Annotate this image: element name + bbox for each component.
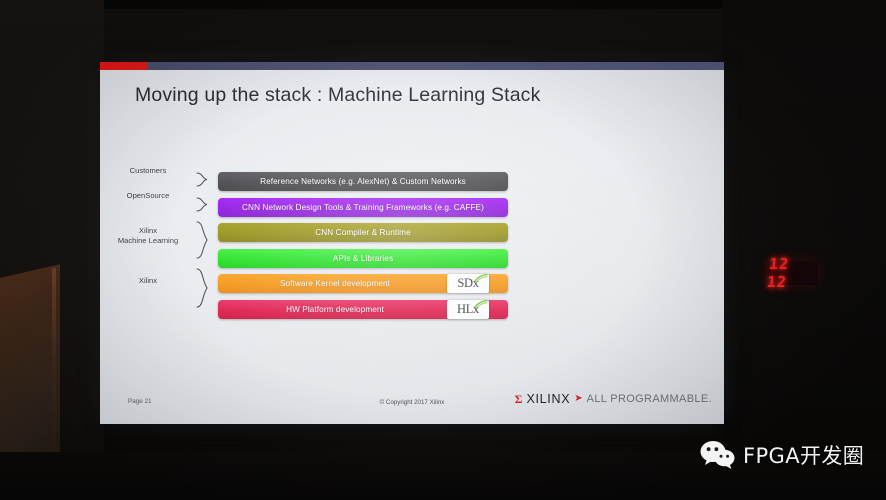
sdx-swoosh-icon — [474, 274, 488, 283]
group-label-customers: Customers — [100, 166, 196, 177]
led-clock: 12 12 — [768, 261, 818, 285]
group-label-xilinx-ml-line2: Machine Learning — [100, 236, 196, 247]
brace-xilinx-ml — [197, 222, 207, 258]
watermark: FPGA开发圈 — [700, 440, 864, 470]
stack-bar-label: Reference Networks (e.g. AlexNet) & Cust… — [260, 177, 466, 186]
xilinx-wordmark: XILINX — [526, 393, 570, 406]
xilinx-logo: Σ XILINX ➤ ALL PROGRAMMABLE. — [515, 393, 712, 406]
right-wall — [722, 0, 886, 500]
ml-stack: Reference Networks (e.g. AlexNet) & Cust… — [218, 172, 508, 325]
stack-bar-hw-platform[interactable]: HW Platform development HLx — [218, 300, 508, 319]
brace-group — [196, 170, 218, 330]
wechat-icon — [700, 440, 736, 470]
group-label-xilinx: Xilinx — [100, 276, 196, 287]
slide-top-bar — [100, 62, 724, 70]
stack-bar-reference-networks[interactable]: Reference Networks (e.g. AlexNet) & Cust… — [218, 172, 508, 191]
group-label-xilinx-ml-line1: Xilinx — [100, 226, 196, 237]
stack-bar-label: CNN Network Design Tools & Training Fram… — [242, 203, 484, 212]
stack-bar-label: HW Platform development — [286, 305, 384, 314]
hlx-swoosh-icon — [474, 300, 488, 309]
watermark-text: FPGA开发圈 — [743, 440, 864, 470]
stack-bar-label: APIs & Libraries — [333, 254, 393, 263]
brace-opensource — [197, 198, 207, 211]
stack-bar-label: CNN Compiler & Runtime — [315, 228, 410, 237]
stack-bar-software-kernel[interactable]: Software Kernel development SDx — [218, 274, 508, 293]
slide-accent-red — [100, 62, 148, 70]
led-clock-digits: 12 12 — [767, 261, 820, 285]
brace-customers — [197, 173, 207, 186]
page-title: Moving up the stack : Machine Learning S… — [135, 84, 675, 107]
arrow-icon: ➤ — [574, 394, 582, 404]
stack-bar-apis-libraries[interactable]: APIs & Libraries — [218, 249, 508, 268]
stack-bar-cnn-compiler-runtime[interactable]: CNN Compiler & Runtime — [218, 223, 508, 242]
brace-xilinx — [197, 269, 207, 307]
xilinx-sigma-icon: Σ — [515, 393, 523, 405]
stack-bar-label: Software Kernel development — [280, 279, 390, 288]
photo-scene: Moving up the stack : Machine Learning S… — [0, 0, 886, 500]
sdx-logo: SDx — [447, 274, 489, 293]
xilinx-tagline: ALL PROGRAMMABLE. — [587, 394, 712, 405]
stack-bar-cnn-design-tools[interactable]: CNN Network Design Tools & Training Fram… — [218, 198, 508, 217]
group-label-opensource: OpenSource — [100, 191, 196, 202]
projection-screen: Moving up the stack : Machine Learning S… — [100, 62, 724, 424]
hlx-logo: HLx — [447, 300, 489, 319]
